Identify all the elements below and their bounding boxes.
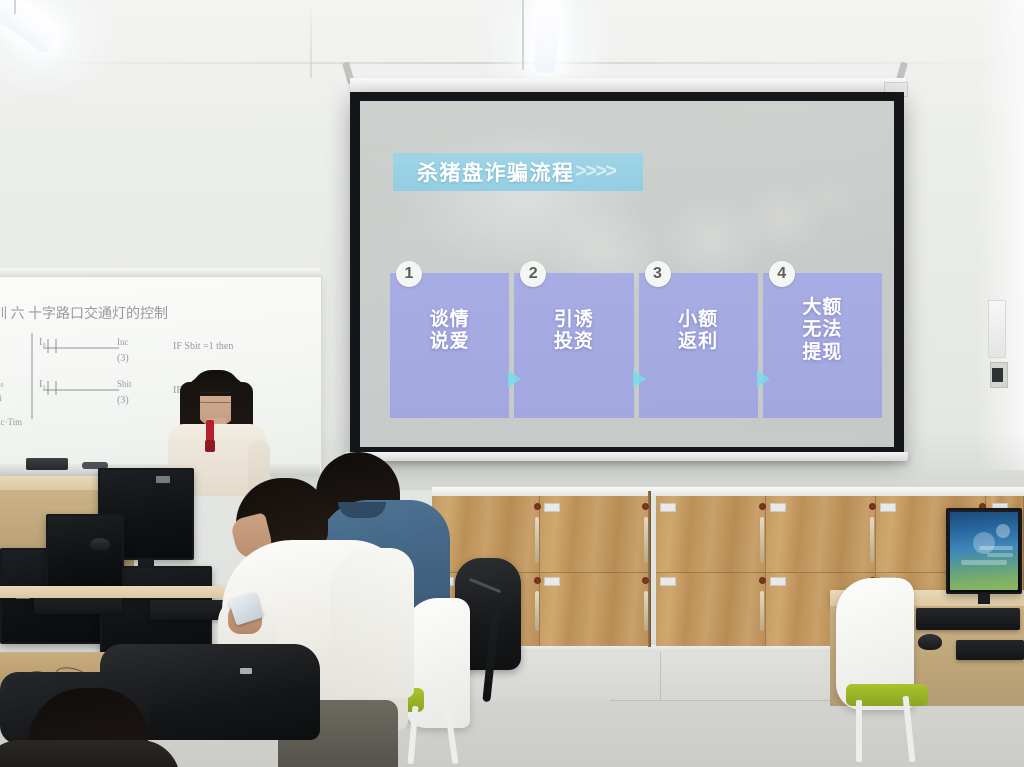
wall-mounted-device[interactable] xyxy=(988,300,1006,358)
step-label: 引诱 投资 xyxy=(554,309,594,354)
user-avatar-icon xyxy=(973,532,995,554)
cabinet-lock-icon[interactable] xyxy=(534,503,541,510)
whiteboard-note: (3) xyxy=(117,395,129,406)
step-number-badge: 4 xyxy=(769,261,795,287)
cabinet-lock-icon[interactable] xyxy=(759,503,766,510)
bag-zipper-pull xyxy=(240,668,252,674)
cabinet-label-plate xyxy=(544,503,560,512)
chair-2-leg xyxy=(856,700,862,762)
step-arrow-icon xyxy=(757,370,770,388)
step-arrow-icon xyxy=(633,370,646,388)
monitor-bezel xyxy=(46,514,124,588)
mouse-right[interactable] xyxy=(918,634,942,650)
screen-housing xyxy=(350,78,906,92)
slide-step-4: 4 大额 无法 提现 xyxy=(763,273,882,418)
step-number-badge: 1 xyxy=(396,261,422,287)
fluorescent-tube-center xyxy=(534,0,560,74)
student-bottom-left-shoulder xyxy=(0,740,180,767)
presenter-lanyard xyxy=(206,420,214,442)
slide-title: 杀猪盘诈骗流程 xyxy=(417,157,575,187)
whiteboard-contact xyxy=(47,339,49,353)
whiteboard-contact xyxy=(55,381,57,395)
cabinet-label-plate xyxy=(770,503,786,512)
cabinet-label-plate xyxy=(660,503,676,512)
whiteboard-rail-line xyxy=(31,333,33,419)
keyboard-right[interactable] xyxy=(916,608,1020,630)
student-white-shoulder xyxy=(330,548,414,698)
slide-title-banner: 杀猪盘诈骗流程 >>>> xyxy=(393,153,643,191)
whiteboard: 训 六 十字路口交通灯的控制 IF Sbit =1 then IF St (3)… xyxy=(0,276,322,473)
whiteboard-contact xyxy=(47,381,49,395)
slide-step-2: 2 引诱 投资 xyxy=(514,273,633,418)
step-number-badge: 3 xyxy=(645,261,671,287)
wall-device-screen xyxy=(992,368,1003,382)
cabinet-lock-icon[interactable] xyxy=(534,577,541,584)
cabinet-handle[interactable] xyxy=(760,591,764,631)
light-hanger-left xyxy=(14,0,16,14)
projection-screen-frame: 杀猪盘诈骗流程 >>>> 1 谈情 说爱 2 引诱 投资 3 小额 返利 xyxy=(350,92,904,456)
login-info-line xyxy=(987,553,1013,557)
whiteboard-note: (3) xyxy=(117,353,129,364)
wall-right-edge xyxy=(978,0,1024,470)
step-label: 谈情 说爱 xyxy=(430,309,470,354)
cabinet-unit-divider xyxy=(648,491,651,647)
cabinet-top-surface xyxy=(432,487,1024,496)
classroom-photo: 杀猪盘诈骗流程 >>>> 1 谈情 说爱 2 引诱 投资 3 小额 返利 xyxy=(0,0,1024,767)
cabinet-handle[interactable] xyxy=(644,517,648,563)
whiteboard-note: Sbit xyxy=(117,379,132,389)
whiteboard-note: Hi xyxy=(0,393,2,403)
projector-hotspot xyxy=(403,122,643,278)
step-arrow-icon xyxy=(508,370,521,388)
os-logo-icon xyxy=(996,524,1010,538)
light-hanger-center xyxy=(522,0,524,70)
step-number-badge: 2 xyxy=(520,261,546,287)
screen-weight-bar xyxy=(346,452,908,461)
monitor-logo-badge xyxy=(156,476,170,483)
glasses-icon xyxy=(199,392,235,403)
projection-screen-surface: 杀猪盘诈骗流程 >>>> 1 谈情 说爱 2 引诱 投资 3 小额 返利 xyxy=(360,101,894,447)
monitor-bezel xyxy=(946,508,1022,594)
cabinet-handle[interactable] xyxy=(870,517,874,563)
monitor-login-screen[interactable] xyxy=(950,512,1018,590)
whiteboard-note: IF Sbit =1 then xyxy=(173,341,233,352)
wall-seam-vertical xyxy=(310,0,312,78)
whiteboard-note: Q₀ xyxy=(0,377,4,388)
chevron-right-icon: >>>> xyxy=(576,161,616,183)
slide-step-3: 3 小额 返利 xyxy=(639,273,758,418)
login-username-field[interactable] xyxy=(961,560,1007,565)
mouse-left-1[interactable] xyxy=(90,538,110,551)
cabinet-lock-icon[interactable] xyxy=(759,577,766,584)
cabinet-handle[interactable] xyxy=(760,517,764,563)
floor-tile-line xyxy=(660,648,661,700)
cabinet-lock-icon[interactable] xyxy=(642,577,649,584)
desk-front-left xyxy=(0,586,250,598)
login-info-line xyxy=(979,546,1013,550)
cabinet-handle[interactable] xyxy=(644,591,648,631)
whiteboard-note: Inc xyxy=(117,337,129,347)
cabinet-label-plate xyxy=(770,577,786,586)
keyboard-left-1[interactable] xyxy=(34,596,122,614)
monitor-right-stand xyxy=(978,594,990,604)
whiteboard-note: 训 六 十字路口交通灯的控制 xyxy=(0,303,168,323)
cabinet-lock-icon[interactable] xyxy=(869,503,876,510)
whiteboard-note: Inc·Tim xyxy=(0,417,22,427)
slide-step-1: 1 谈情 说爱 xyxy=(390,273,509,418)
slide-steps-row: 1 谈情 说爱 2 引诱 投资 3 小额 返利 4 大额 无法 提现 xyxy=(390,273,882,418)
keyboard-right-2[interactable] xyxy=(956,640,1024,660)
cabinet-label-plate xyxy=(660,577,676,586)
cabinet-lock-icon[interactable] xyxy=(642,503,649,510)
cabinet-handle[interactable] xyxy=(535,591,539,631)
cabinet-handle[interactable] xyxy=(535,517,539,563)
monitor-right[interactable] xyxy=(946,508,1022,594)
presenter-lanyard-badge xyxy=(205,440,215,452)
cabinet-label-plate xyxy=(880,503,896,512)
step-label: 大额 无法 提现 xyxy=(802,297,842,364)
step-label: 小额 返利 xyxy=(678,309,718,354)
whiteboard-contact xyxy=(55,339,57,353)
whiteboard-eraser[interactable] xyxy=(26,458,68,470)
cabinet-label-plate xyxy=(544,577,560,586)
monitor-4[interactable] xyxy=(46,514,124,588)
